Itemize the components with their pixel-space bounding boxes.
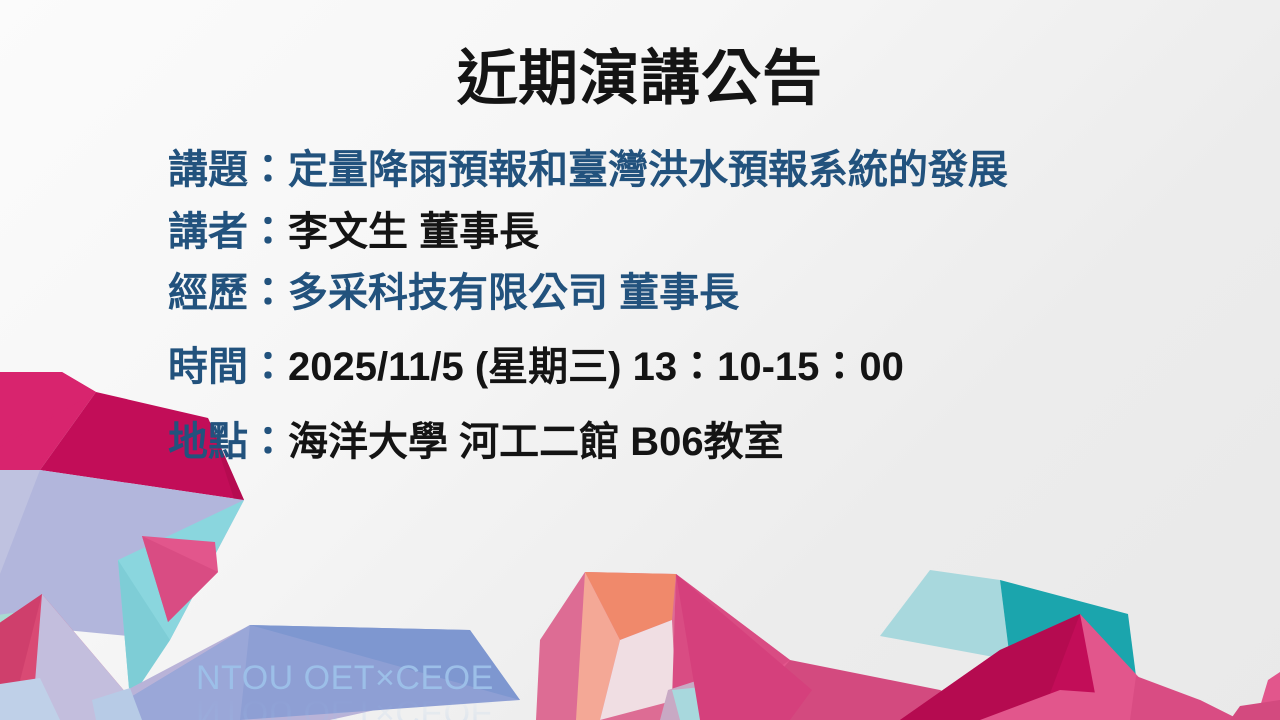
detail-row-time: 時間：2025/11/5 (星期三) 13：10-15：00: [168, 345, 1258, 390]
detail-value-time: 2025/11/5 (星期三) 13：10-15：00: [288, 345, 904, 389]
slide-canvas: 近期演講公告 講題：定量降雨預報和臺灣洪水預報系統的發展 講者：李文生 董事長 …: [0, 0, 1280, 720]
detail-label-place: 地點：: [168, 420, 288, 464]
detail-row-topic: 講題：定量降雨預報和臺灣洪水預報系統的發展: [168, 148, 1258, 193]
detail-row-bio: 經歷：多采科技有限公司 董事長: [168, 271, 1258, 316]
ntou-logo-reflection: NTOU OET×CEOE: [196, 692, 494, 720]
detail-value-speaker: 李文生 董事長: [288, 210, 539, 254]
detail-label-time: 時間：: [168, 345, 288, 389]
detail-value-bio: 多采科技有限公司 董事長: [288, 271, 739, 315]
detail-row-speaker: 講者：李文生 董事長: [168, 210, 1258, 255]
page-title: 近期演講公告: [0, 46, 1280, 112]
detail-row-place: 地點：海洋大學 河工二館 B06教室: [168, 420, 1258, 465]
detail-label-topic: 講題：: [168, 148, 288, 192]
detail-value-place: 海洋大學 河工二館 B06教室: [288, 420, 784, 464]
detail-value-topic: 定量降雨預報和臺灣洪水預報系統的發展: [288, 148, 1008, 192]
detail-label-bio: 經歷：: [168, 271, 288, 315]
detail-label-speaker: 講者：: [168, 210, 288, 254]
announcement-details: 講題：定量降雨預報和臺灣洪水預報系統的發展 講者：李文生 董事長 經歷：多采科技…: [168, 148, 1258, 465]
